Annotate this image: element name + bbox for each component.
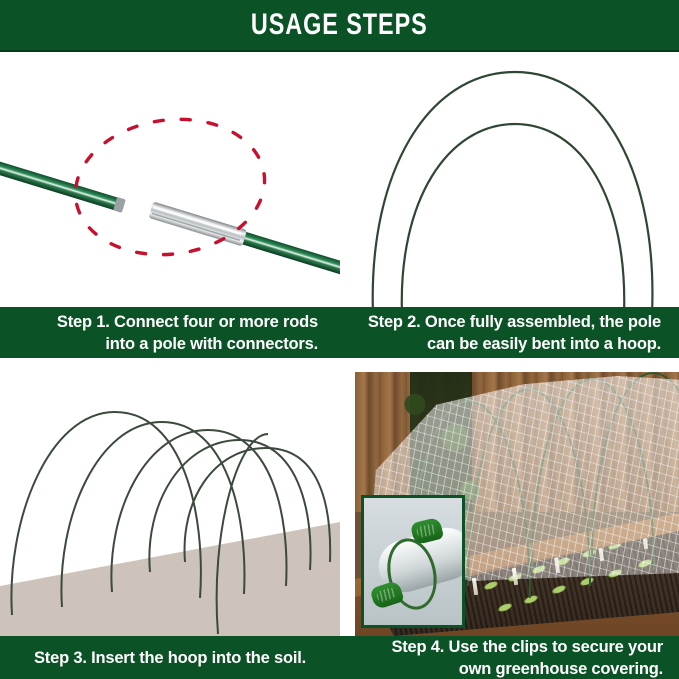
row-2-caption-band: Step 3. Insert the hoop into the soil. S… [0,636,679,679]
outer-hoop [373,72,653,307]
page-title: USAGE STEPS [251,8,428,42]
step-3-caption: Step 3. Insert the hoop into the soil. [0,636,340,679]
soil-plane [0,522,340,636]
connector-sleeve [148,202,247,247]
bent-hoop-diagram [340,52,679,307]
garden-bed-photo [355,372,679,636]
panel-4-left-margin [340,372,355,636]
clip-closeup-inset [361,495,465,628]
step-4-caption-text: Step 4. Use the clips to secure your own… [391,636,663,679]
left-rod [0,153,126,213]
inner-hoop [402,124,624,307]
row-1-caption-band: Step 1. Connect four or more rods into a… [0,307,679,358]
step-2-caption-text: Step 2. Once fully assembled, the pole c… [368,311,661,355]
right-rod-with-connector [148,202,340,279]
hoops-in-soil-diagram [0,372,340,636]
step-2-illustration [340,52,679,307]
step-3-illustration [0,372,340,636]
step-1-caption: Step 1. Connect four or more rods into a… [0,307,340,358]
step-2-caption: Step 2. Once fully assembled, the pole c… [340,307,679,358]
rods-connector-diagram [0,52,340,307]
step-1-caption-text: Step 1. Connect four or more rods into a… [57,311,318,355]
step-3-caption-text: Step 3. Insert the hoop into the soil. [34,647,306,669]
step-1-illustration [0,52,340,307]
header-banner: USAGE STEPS [0,0,679,52]
step-4-caption: Step 4. Use the clips to secure your own… [340,636,679,679]
usage-steps-infographic: USAGE STEPS [0,0,679,679]
step-4-photo [355,372,679,636]
